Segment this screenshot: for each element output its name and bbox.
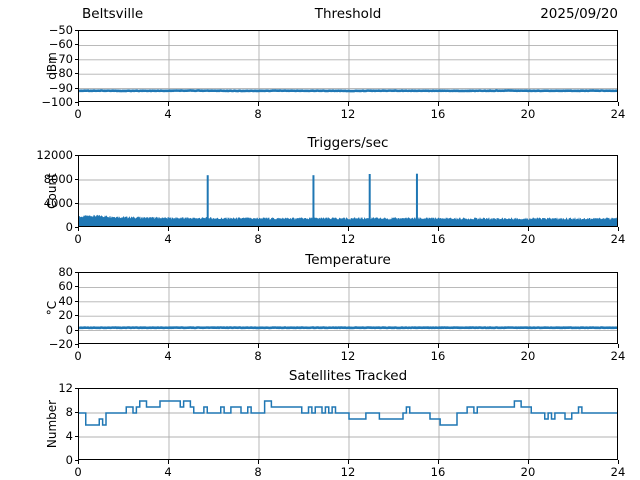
temperature-xtick-mark <box>258 344 259 348</box>
triggers-xtick-mark <box>258 227 259 231</box>
triggers-ytick-mark <box>75 155 79 156</box>
temperature-ytick-mark <box>75 330 79 331</box>
temperature-ytick-mark <box>75 272 79 273</box>
threshold-xtick-mark <box>78 102 79 106</box>
threshold-ytick-label: −70 <box>49 52 73 66</box>
panel-threshold: dBm −100−90−80−70−60−5004812162024 <box>78 30 618 102</box>
satellites-ytick-label: 4 <box>66 429 73 443</box>
threshold-xtick-label: 8 <box>254 107 261 121</box>
threshold-xtick-mark <box>528 102 529 106</box>
temperature-ytick-label: −20 <box>49 337 73 351</box>
threshold-ytick-mark <box>75 44 79 45</box>
temperature-xtick-mark <box>348 344 349 348</box>
triggers-canvas <box>79 156 618 227</box>
satellites-xtick-label: 24 <box>611 465 626 479</box>
triggers-xtick-mark <box>168 227 169 231</box>
panel-triggers: Triggers/sec Count 040008000120000481216… <box>78 155 618 227</box>
temperature-canvas <box>79 273 618 344</box>
satellites-xtick-mark <box>438 460 439 464</box>
triggers-ytick-mark <box>75 179 79 180</box>
triggers-xtick-label: 0 <box>74 232 81 246</box>
temperature-xtick-mark <box>438 344 439 348</box>
satellites-ytick-mark <box>75 412 79 413</box>
triggers-xtick-label: 8 <box>254 232 261 246</box>
threshold-xtick-mark <box>348 102 349 106</box>
satellites-xtick-label: 8 <box>254 465 261 479</box>
satellites-xtick-mark <box>618 460 619 464</box>
satellites-ytick-mark <box>75 436 79 437</box>
triggers-xtick-mark <box>528 227 529 231</box>
threshold-ytick-label: −60 <box>49 37 73 51</box>
panel-temperature-ylabel: °C <box>45 268 59 348</box>
satellites-xtick-mark <box>528 460 529 464</box>
threshold-xtick-label: 12 <box>341 107 356 121</box>
temperature-xtick-label: 16 <box>431 349 446 363</box>
threshold-ytick-mark <box>75 30 79 31</box>
satellites-xtick-label: 12 <box>341 465 356 479</box>
threshold-xtick-label: 24 <box>611 107 626 121</box>
triggers-ytick-label: 8000 <box>44 172 73 186</box>
temperature-xtick-label: 0 <box>74 349 81 363</box>
triggers-xtick-label: 20 <box>521 232 536 246</box>
triggers-xtick-mark <box>438 227 439 231</box>
satellites-ytick-label: 8 <box>66 405 73 419</box>
panel-satellites: Satellites Tracked Number 04812048121620… <box>78 388 618 460</box>
threshold-xtick-mark <box>168 102 169 106</box>
temperature-xtick-mark <box>618 344 619 348</box>
temperature-ytick-mark <box>75 286 79 287</box>
figure-header: Beltsville Threshold 2025/09/20 <box>78 6 618 26</box>
temperature-ytick-label: 0 <box>66 323 73 337</box>
threshold-xtick-mark <box>258 102 259 106</box>
threshold-xtick-label: 20 <box>521 107 536 121</box>
threshold-xtick-label: 16 <box>431 107 446 121</box>
temperature-xtick-mark <box>528 344 529 348</box>
station-name: Beltsville <box>82 6 143 22</box>
triggers-xtick-mark <box>78 227 79 231</box>
threshold-xtick-mark <box>438 102 439 106</box>
triggers-ytick-mark <box>75 203 79 204</box>
panel-satellites-ylabel: Number <box>45 384 59 464</box>
triggers-xtick-mark <box>348 227 349 231</box>
threshold-xtick-mark <box>618 102 619 106</box>
figure: Beltsville Threshold 2025/09/20 dBm −100… <box>0 0 640 480</box>
threshold-ytick-label: −50 <box>49 23 73 37</box>
figure-title: Threshold <box>315 6 382 22</box>
temperature-ytick-label: 40 <box>58 294 73 308</box>
temperature-ytick-label: 20 <box>58 308 73 322</box>
satellites-canvas <box>79 389 618 460</box>
triggers-xtick-mark <box>618 227 619 231</box>
satellites-xtick-label: 20 <box>521 465 536 479</box>
satellites-ytick-label: 0 <box>66 453 73 467</box>
temperature-xtick-label: 12 <box>341 349 356 363</box>
threshold-xtick-label: 4 <box>164 107 171 121</box>
threshold-ytick-mark <box>75 59 79 60</box>
triggers-xtick-label: 4 <box>164 232 171 246</box>
satellites-xtick-mark <box>348 460 349 464</box>
panel-triggers-title: Triggers/sec <box>308 135 389 151</box>
panel-satellites-title: Satellites Tracked <box>289 368 407 384</box>
triggers-ytick-label: 0 <box>66 220 73 234</box>
temperature-xtick-label: 8 <box>254 349 261 363</box>
panel-temperature-plot <box>78 272 618 344</box>
satellites-xtick-label: 16 <box>431 465 446 479</box>
satellites-xtick-label: 4 <box>164 465 171 479</box>
threshold-ytick-label: −80 <box>49 66 73 80</box>
temperature-ytick-label: 80 <box>58 265 73 279</box>
temperature-xtick-label: 4 <box>164 349 171 363</box>
satellites-xtick-mark <box>258 460 259 464</box>
panel-satellites-plot <box>78 388 618 460</box>
threshold-ytick-label: −90 <box>49 81 73 95</box>
satellites-ytick-mark <box>75 388 79 389</box>
temperature-ytick-mark <box>75 301 79 302</box>
temperature-xtick-label: 24 <box>611 349 626 363</box>
satellites-xtick-label: 0 <box>74 465 81 479</box>
figure-date: 2025/09/20 <box>540 6 618 22</box>
threshold-ytick-label: −100 <box>41 95 73 109</box>
triggers-ytick-label: 12000 <box>36 148 73 162</box>
triggers-ytick-label: 4000 <box>44 196 73 210</box>
temperature-xtick-mark <box>78 344 79 348</box>
temperature-xtick-label: 20 <box>521 349 536 363</box>
threshold-xtick-label: 0 <box>74 107 81 121</box>
threshold-ytick-mark <box>75 88 79 89</box>
satellites-ytick-label: 12 <box>58 381 73 395</box>
panel-temperature-title: Temperature <box>305 252 391 268</box>
satellites-xtick-mark <box>168 460 169 464</box>
triggers-xtick-label: 16 <box>431 232 446 246</box>
panel-triggers-plot <box>78 155 618 227</box>
threshold-ytick-mark <box>75 73 79 74</box>
temperature-ytick-label: 60 <box>58 279 73 293</box>
satellites-xtick-mark <box>78 460 79 464</box>
triggers-xtick-label: 24 <box>611 232 626 246</box>
temperature-ytick-mark <box>75 315 79 316</box>
panel-threshold-plot <box>78 30 618 102</box>
panel-triggers-ylabel: Count <box>45 151 59 231</box>
temperature-xtick-mark <box>168 344 169 348</box>
panel-temperature: Temperature °C −2002040608004812162024 <box>78 272 618 344</box>
triggers-xtick-label: 12 <box>341 232 356 246</box>
threshold-canvas <box>79 31 618 102</box>
